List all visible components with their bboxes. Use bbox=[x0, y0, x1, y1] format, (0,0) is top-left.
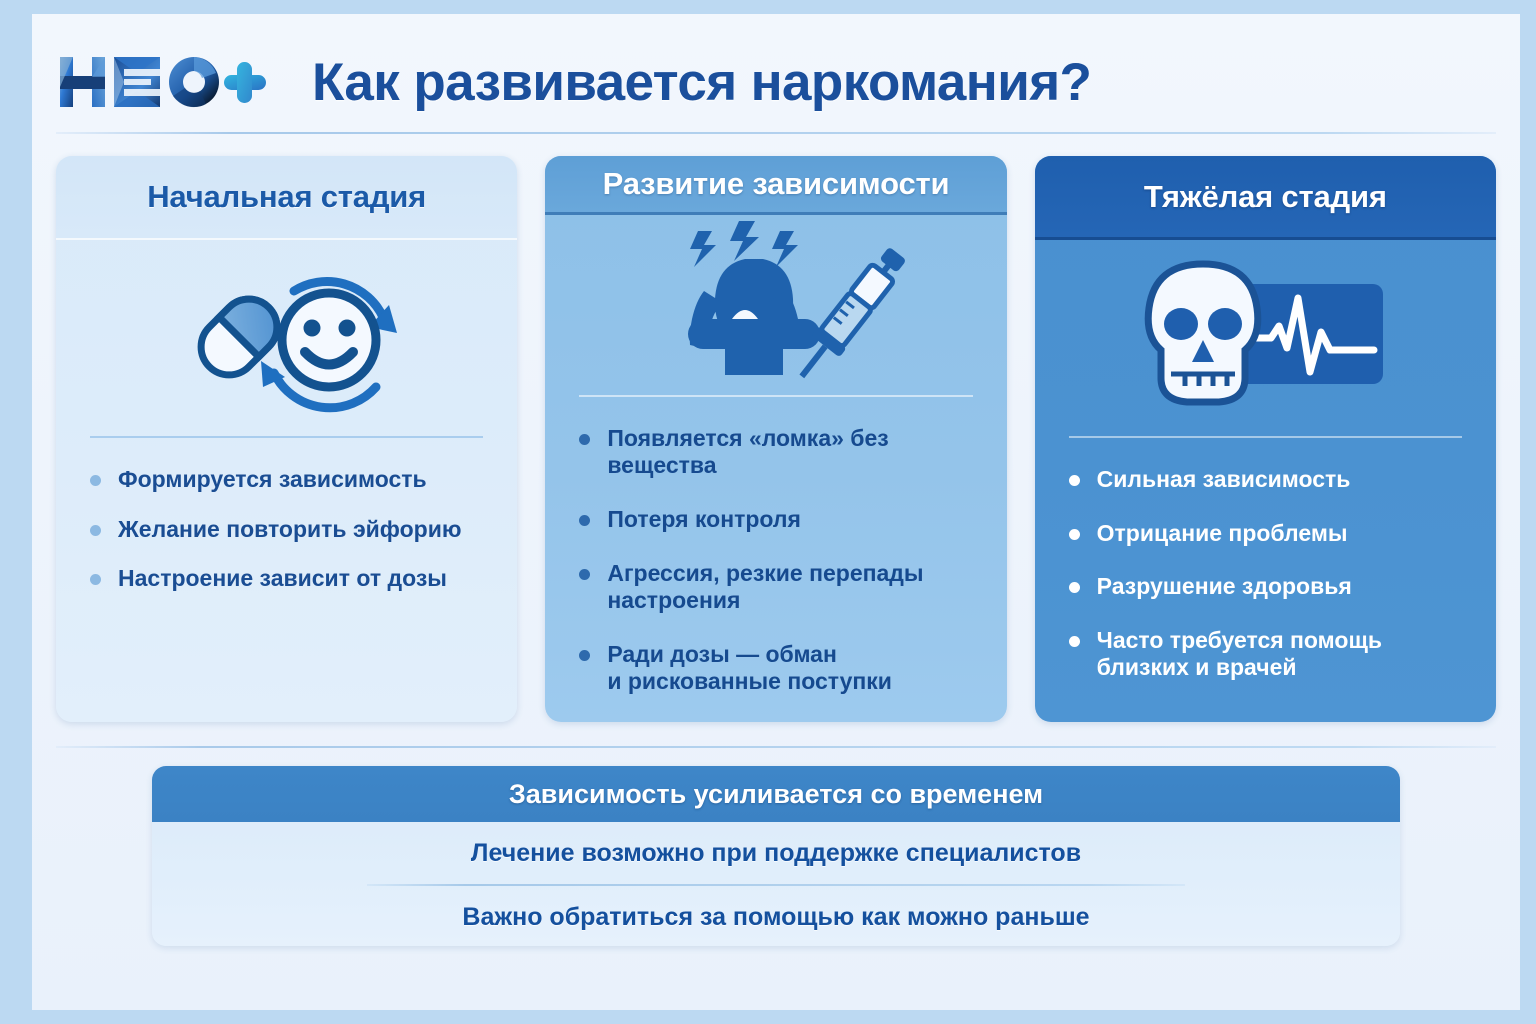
logo-plus-icon bbox=[224, 62, 266, 103]
summary-headline: Зависимость усиливается со временем bbox=[509, 779, 1043, 810]
summary-line-2: Важно обратиться за помощью как можно ра… bbox=[152, 886, 1400, 946]
summary-headline-bar: Зависимость усиливается со временем bbox=[152, 766, 1400, 822]
bullet-text: Отрицание проблемы bbox=[1097, 520, 1348, 546]
summary-panel: Зависимость усиливается со временем Лече… bbox=[152, 766, 1400, 946]
page-title: Как развивается наркомания? bbox=[312, 52, 1091, 113]
stage-card-header: Тяжёлая стадия bbox=[1035, 156, 1496, 240]
stage-card-header: Начальная стадия bbox=[56, 156, 517, 240]
bullet-dot-icon bbox=[579, 650, 590, 661]
stage-card-header: Развитие зависимости bbox=[545, 156, 1006, 215]
logo-letter-e bbox=[114, 57, 160, 107]
bullet-text: Появляется «ломка» без вещества bbox=[607, 425, 888, 479]
bullet-text: Агрессия, резкие перепады настроения bbox=[607, 560, 923, 614]
bullet-dot-icon bbox=[1069, 529, 1080, 540]
stage-title: Развитие зависимости bbox=[603, 166, 950, 202]
bullet-text: Формируется зависимость bbox=[118, 466, 427, 492]
header-divider bbox=[56, 132, 1496, 134]
bullet-text: Желание повторить эйфорию bbox=[118, 516, 462, 542]
footer-divider bbox=[56, 746, 1496, 748]
list-item: Агрессия, резкие перепады настроения bbox=[579, 560, 980, 615]
stage-bullet-list: Формируется зависимость Желание повторит… bbox=[56, 438, 517, 722]
infographic-poster: Как развивается наркомания? Начальная ст… bbox=[0, 0, 1536, 1024]
bullet-dot-icon bbox=[579, 515, 590, 526]
stage-card-initial[interactable]: Начальная стадия bbox=[56, 156, 517, 722]
list-item: Потеря контроля bbox=[579, 506, 980, 534]
syringe-icon bbox=[788, 243, 910, 388]
bullet-dot-icon bbox=[90, 475, 101, 486]
poster-header: Как развивается наркомания? bbox=[56, 30, 1496, 134]
list-item: Ради дозы — обман и рискованные поступки bbox=[579, 641, 980, 696]
list-item: Разрушение здоровья bbox=[1069, 573, 1470, 601]
bullet-dot-icon bbox=[1069, 636, 1080, 647]
list-item: Часто требуется помощь близких и врачей bbox=[1069, 627, 1470, 682]
stage-card-developing[interactable]: Развитие зависимости bbox=[545, 156, 1006, 722]
pill-smiley-cycle-icon bbox=[56, 240, 517, 436]
stages-row: Начальная стадия bbox=[56, 156, 1496, 722]
bullet-text: Ради дозы — обман и рискованные поступки bbox=[607, 641, 892, 695]
list-item: Отрицание проблемы bbox=[1069, 520, 1470, 548]
stage-card-severe[interactable]: Тяжёлая стадия bbox=[1035, 156, 1496, 722]
bullet-dot-icon bbox=[1069, 582, 1080, 593]
summary-line-text: Лечение возможно при поддержке специалис… bbox=[471, 839, 1081, 868]
bullet-text: Настроение зависит от дозы bbox=[118, 565, 447, 591]
smiley-face-icon bbox=[282, 293, 376, 387]
list-item: Появляется «ломка» без вещества bbox=[579, 425, 980, 480]
stage-bullet-list: Сильная зависимость Отрицание проблемы Р… bbox=[1035, 438, 1496, 722]
list-item: Желание повторить эйфорию bbox=[90, 516, 491, 544]
skull-icon bbox=[1149, 264, 1259, 402]
stressed-person-syringe-icon bbox=[545, 215, 1006, 395]
bullet-dot-icon bbox=[579, 569, 590, 580]
logo-letter-n bbox=[60, 57, 105, 107]
bullet-dot-icon bbox=[90, 525, 101, 536]
stage-title: Тяжёлая стадия bbox=[1144, 179, 1387, 215]
list-item: Настроение зависит от дозы bbox=[90, 565, 491, 593]
summary-line-1: Лечение возможно при поддержке специалис… bbox=[152, 822, 1400, 884]
neo-plus-logo bbox=[56, 51, 268, 113]
bullet-text: Сильная зависимость bbox=[1097, 466, 1351, 492]
skull-ecg-monitor-icon bbox=[1035, 240, 1496, 436]
stage-bullet-list: Появляется «ломка» без вещества Потеря к… bbox=[545, 397, 1006, 722]
logo-letter-o bbox=[169, 57, 219, 107]
list-item: Сильная зависимость bbox=[1069, 466, 1470, 494]
bullet-text: Потеря контроля bbox=[607, 506, 801, 532]
bullet-dot-icon bbox=[579, 434, 590, 445]
stage-title: Начальная стадия bbox=[147, 179, 426, 215]
bullet-dot-icon bbox=[90, 574, 101, 585]
bullet-text: Разрушение здоровья bbox=[1097, 573, 1352, 599]
poster-canvas: Как развивается наркомания? Начальная ст… bbox=[32, 14, 1520, 1010]
summary-line-text: Важно обратиться за помощью как можно ра… bbox=[462, 903, 1089, 932]
list-item: Формируется зависимость bbox=[90, 466, 491, 494]
bullet-text: Часто требуется помощь близких и врачей bbox=[1097, 627, 1382, 681]
bullet-dot-icon bbox=[1069, 475, 1080, 486]
